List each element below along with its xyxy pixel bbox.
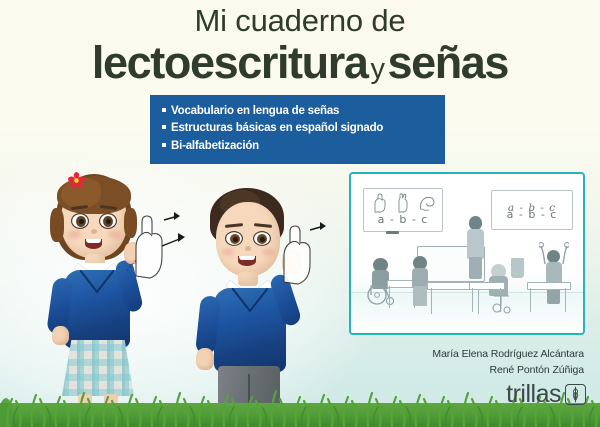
- boy-teeth: [239, 256, 255, 260]
- trillas-emblem-icon: [565, 384, 586, 405]
- wheat-emblem-icon: [566, 385, 585, 404]
- girl-cheek-right: [108, 230, 121, 239]
- student-body: [412, 268, 428, 288]
- feature-item: Estructuras básicas en español signado: [162, 120, 435, 137]
- bullet-square-icon: [162, 108, 166, 112]
- publisher-name: trillas: [506, 382, 561, 407]
- whiteboard-letters: a - b - c a - b - c: [491, 190, 573, 230]
- whiteboard-signs: a - b - c: [363, 188, 443, 232]
- whiteboard-marker-tray: [386, 231, 399, 234]
- feature-label: Vocabulario en lengua de señas: [171, 105, 339, 117]
- title-line-1: Mi cuaderno de: [0, 4, 600, 38]
- boy-vneck: [232, 288, 268, 313]
- author-name: María Elena Rodríguez Alcántara: [432, 346, 584, 362]
- feature-box: Vocabulario en lengua de señas Estructur…: [150, 95, 445, 164]
- feature-label: Bi-alfabetización: [171, 140, 259, 152]
- desk-leg: [530, 288, 531, 312]
- whiteboard-right-print-row: a - b - c: [492, 205, 572, 223]
- boy-cheek-right: [262, 248, 274, 256]
- girl-hand-left: [52, 326, 69, 345]
- girl-nose: [91, 229, 97, 234]
- girl-vneck: [80, 270, 114, 294]
- student-skirt: [413, 286, 427, 306]
- classroom-scene: a - b - c a - b - c a - b - c: [351, 174, 583, 333]
- boy-character: [168, 188, 328, 410]
- boy-pupil-right: [260, 237, 265, 242]
- boy-mouth: [238, 256, 256, 266]
- desk-leg: [565, 288, 566, 312]
- hand-sign-c-icon: [418, 193, 436, 213]
- bullet-square-icon: [162, 125, 166, 129]
- boy-pupil-left: [233, 237, 238, 242]
- teacher-body: [467, 229, 484, 259]
- boy-hand-right: [282, 250, 301, 274]
- author-name: René Pontón Zúñiga: [432, 362, 584, 378]
- girl-pupil-left: [79, 219, 84, 224]
- trash-bin: [511, 258, 524, 278]
- desk-leg: [478, 288, 479, 314]
- hand-sign-a-icon: [371, 193, 388, 213]
- classroom-illustration-panel: a - b - c a - b - c a - b - c: [349, 172, 585, 335]
- publisher-logo: trillas: [506, 382, 586, 407]
- girl-braid-left: [50, 208, 64, 242]
- title-word-lectoescritura: lectoescritura: [92, 37, 368, 88]
- title-conjunction: y: [367, 53, 387, 85]
- desk-leg: [431, 288, 432, 314]
- teacher-head: [469, 216, 482, 230]
- feature-item: Bi-alfabetización: [162, 138, 435, 155]
- title-block: Mi cuaderno de lectoescriturayseñas: [0, 4, 600, 85]
- girl-character: [28, 168, 178, 408]
- desk-leg: [472, 288, 473, 312]
- hand-sign-b-icon: [394, 193, 411, 213]
- sign-row: [364, 193, 442, 213]
- boy-nose: [245, 246, 251, 251]
- book-cover: Mi cuaderno de lectoescriturayseñas Voca…: [0, 0, 600, 427]
- girl-braid-right: [124, 208, 137, 238]
- boy-cheek-left: [222, 248, 234, 256]
- girl-pupil-right: [106, 219, 111, 224]
- title-line-2: lectoescriturayseñas: [0, 40, 600, 85]
- teacher-skirt: [469, 257, 482, 279]
- feature-item: Vocabulario en lengua de señas: [162, 103, 435, 120]
- bullet-square-icon: [162, 143, 166, 147]
- whiteboard-right-print: a - b - c: [507, 208, 558, 221]
- girl-mouth: [85, 239, 102, 249]
- chair-icon: [489, 292, 513, 314]
- authors-block: María Elena Rodríguez Alcántara René Pon…: [432, 346, 584, 379]
- raised-arms-icon: [539, 242, 569, 266]
- girl-cheek-left: [68, 230, 81, 239]
- girl-teeth: [86, 239, 101, 243]
- boy-hand-left: [196, 348, 214, 370]
- whiteboard-left-letters: a - b - c: [364, 213, 442, 226]
- title-word-senas: señas: [387, 37, 508, 88]
- girl-hand-right: [124, 242, 142, 264]
- flower-hair-clip-icon: [68, 172, 85, 189]
- feature-label: Estructuras básicas en español signado: [171, 122, 383, 134]
- desk-leg: [389, 286, 390, 308]
